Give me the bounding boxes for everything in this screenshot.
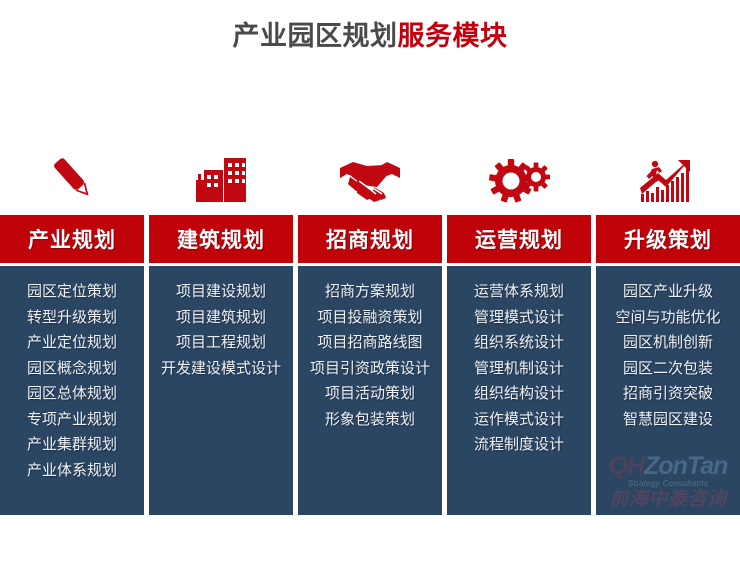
page-root: 产业园区规划服务模块 产业规划 园区定位策划 xyxy=(0,0,740,578)
pencil-icon xyxy=(0,140,144,210)
page-title-main: 产业园区规划 xyxy=(233,21,398,51)
list-item[interactable]: 项目活动策划 xyxy=(298,381,442,407)
growth-chart-icon xyxy=(596,140,740,210)
page-title: 产业园区规划服务模块 xyxy=(0,22,740,52)
list-item[interactable]: 产业集群规划 xyxy=(0,432,144,458)
column-body-architecture-planning: 项目建设规划 项目建筑规划 项目工程规划 开发建设模式设计 xyxy=(149,266,293,515)
list-item[interactable]: 管理机制设计 xyxy=(447,356,591,382)
service-item-list: 园区产业升级 空间与功能优化 园区机制创新 园区二次包装 招商引资突破 智慧园区… xyxy=(596,279,740,432)
list-item[interactable]: 运作模式设计 xyxy=(447,407,591,433)
list-item[interactable]: 空间与功能优化 xyxy=(596,305,740,331)
list-item[interactable]: 专项产业规划 xyxy=(0,407,144,433)
column-industry-planning[interactable]: 产业规划 园区定位策划 转型升级策划 产业定位规划 园区概念规划 园区总体规划 … xyxy=(0,140,144,515)
list-item[interactable]: 项目工程规划 xyxy=(149,330,293,356)
list-item[interactable]: 园区定位策划 xyxy=(0,279,144,305)
list-item[interactable]: 园区产业升级 xyxy=(596,279,740,305)
column-header-upgrade-strategy[interactable]: 升级策划 xyxy=(596,215,740,263)
list-item[interactable]: 运营体系规划 xyxy=(447,279,591,305)
column-body-upgrade-strategy: 园区产业升级 空间与功能优化 园区机制创新 园区二次包装 招商引资突破 智慧园区… xyxy=(596,266,740,515)
list-item[interactable]: 园区二次包装 xyxy=(596,356,740,382)
column-operation-planning[interactable]: 运营规划 运营体系规划 管理模式设计 组织系统设计 管理机制设计 组织结构设计 … xyxy=(447,140,591,515)
list-item[interactable]: 项目招商路线图 xyxy=(298,330,442,356)
buildings-icon xyxy=(149,140,293,210)
list-item[interactable]: 形象包装策划 xyxy=(298,407,442,433)
page-title-accent: 服务模块 xyxy=(398,21,508,51)
watermark-brand-prefix: QH xyxy=(609,452,645,480)
watermark-subtitle: Strategy Consultants xyxy=(609,480,728,488)
watermark-chinese: 前海中泰咨询 xyxy=(609,490,728,509)
list-item[interactable]: 项目投融资策划 xyxy=(298,305,442,331)
list-item[interactable]: 园区机制创新 xyxy=(596,330,740,356)
service-item-list: 招商方案规划 项目投融资策划 项目招商路线图 项目引资政策设计 项目活动策划 形… xyxy=(298,279,442,432)
column-header-investment-promotion-planning[interactable]: 招商规划 xyxy=(298,215,442,263)
watermark-brand: QHZonTan xyxy=(609,454,728,479)
list-item[interactable]: 流程制度设计 xyxy=(447,432,591,458)
column-header-industry-planning[interactable]: 产业规划 xyxy=(0,215,144,263)
service-item-list: 项目建设规划 项目建筑规划 项目工程规划 开发建设模式设计 xyxy=(149,279,293,381)
column-upgrade-strategy[interactable]: 升级策划 园区产业升级 空间与功能优化 园区机制创新 园区二次包装 招商引资突破… xyxy=(596,140,740,515)
list-item[interactable]: 组织系统设计 xyxy=(447,330,591,356)
list-item[interactable]: 智慧园区建设 xyxy=(596,407,740,433)
list-item[interactable]: 组织结构设计 xyxy=(447,381,591,407)
list-item[interactable]: 项目建筑规划 xyxy=(149,305,293,331)
list-item[interactable]: 转型升级策划 xyxy=(0,305,144,331)
service-module-columns: 产业规划 园区定位策划 转型升级策划 产业定位规划 园区概念规划 园区总体规划 … xyxy=(0,140,740,515)
list-item[interactable]: 园区总体规划 xyxy=(0,381,144,407)
watermark-logo: QHZonTan Strategy Consultants 前海中泰咨询 xyxy=(609,454,728,509)
list-item[interactable]: 产业体系规划 xyxy=(0,458,144,484)
column-body-operation-planning: 运营体系规划 管理模式设计 组织系统设计 管理机制设计 组织结构设计 运作模式设… xyxy=(447,266,591,515)
list-item[interactable]: 园区概念规划 xyxy=(0,356,144,382)
list-item[interactable]: 招商引资突破 xyxy=(596,381,740,407)
gears-icon xyxy=(447,140,591,210)
column-architecture-planning[interactable]: 建筑规划 项目建设规划 项目建筑规划 项目工程规划 开发建设模式设计 xyxy=(149,140,293,515)
watermark-brand-suffix: ZonTan xyxy=(644,452,727,480)
column-body-investment-promotion-planning: 招商方案规划 项目投融资策划 项目招商路线图 项目引资政策设计 项目活动策划 形… xyxy=(298,266,442,515)
service-item-list: 园区定位策划 转型升级策划 产业定位规划 园区概念规划 园区总体规划 专项产业规… xyxy=(0,279,144,483)
list-item[interactable]: 产业定位规划 xyxy=(0,330,144,356)
column-header-operation-planning[interactable]: 运营规划 xyxy=(447,215,591,263)
column-header-architecture-planning[interactable]: 建筑规划 xyxy=(149,215,293,263)
column-investment-promotion-planning[interactable]: 招商规划 招商方案规划 项目投融资策划 项目招商路线图 项目引资政策设计 项目活… xyxy=(298,140,442,515)
list-item[interactable]: 招商方案规划 xyxy=(298,279,442,305)
list-item[interactable]: 管理模式设计 xyxy=(447,305,591,331)
service-item-list: 运营体系规划 管理模式设计 组织系统设计 管理机制设计 组织结构设计 运作模式设… xyxy=(447,279,591,458)
column-body-industry-planning: 园区定位策划 转型升级策划 产业定位规划 园区概念规划 园区总体规划 专项产业规… xyxy=(0,266,144,515)
list-item[interactable]: 项目建设规划 xyxy=(149,279,293,305)
list-item[interactable]: 开发建设模式设计 xyxy=(149,356,293,382)
list-item[interactable]: 项目引资政策设计 xyxy=(298,356,442,382)
handshake-icon xyxy=(298,140,442,210)
